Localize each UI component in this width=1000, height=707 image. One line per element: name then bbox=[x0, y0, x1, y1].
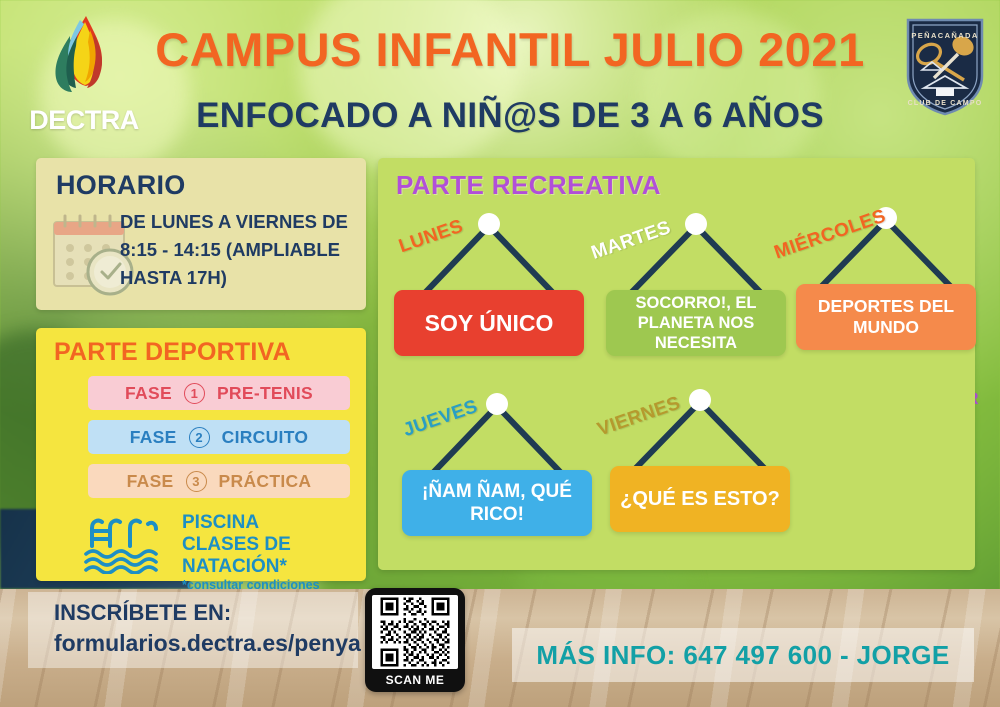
qr-code-card[interactable]: SCAN ME bbox=[365, 588, 465, 692]
parte-deportiva-panel: PARTE DEPORTIVA FASE 1 PRE-TENIS FASE 2 … bbox=[36, 328, 366, 581]
svg-text:PEÑACAÑADA: PEÑACAÑADA bbox=[911, 31, 978, 40]
page-title: CAMPUS INFANTIL JULIO 2021 bbox=[130, 22, 890, 77]
parte-recreativa-panel: PARTE RECREATIVA LUNES SOY ÚNICO MARTES … bbox=[378, 158, 975, 570]
fase-number: 3 bbox=[186, 471, 207, 492]
horario-line: HASTA 17H) bbox=[120, 264, 358, 292]
piscina-text: PISCINA CLASES DE NATACIÓN* *consultar c… bbox=[182, 512, 372, 592]
fase-row-1: FASE 1 PRE-TENIS bbox=[88, 376, 350, 410]
horario-lines: DE LUNES A VIERNES DE 8:15 - 14:15 (AMPL… bbox=[120, 208, 358, 292]
inscripcion-label: INSCRÍBETE EN: bbox=[54, 600, 231, 626]
club-badge-icon: PEÑACAÑADA CLUB DE CAMPO bbox=[902, 14, 988, 118]
pool-ladder-icon bbox=[82, 516, 160, 574]
hanger-lunes-icon bbox=[394, 210, 584, 302]
flame-icon bbox=[24, 10, 144, 115]
fase-row-3: FASE 3 PRÁCTICA bbox=[88, 464, 350, 498]
fase-name: PRE-TENIS bbox=[217, 383, 313, 404]
poster-header: DECTRA CAMPUS INFANTIL JULIO 2021 ENFOCA… bbox=[0, 0, 1000, 150]
activity-sign-jueves: ¡ÑAM ÑAM, QUÉ RICO! bbox=[402, 470, 592, 536]
activity-sign-lunes: SOY ÚNICO bbox=[394, 290, 584, 356]
horario-line: 8:15 - 14:15 (AMPLIABLE bbox=[120, 236, 358, 264]
logo-wordmark: DECTRA bbox=[24, 105, 144, 136]
fase-number: 1 bbox=[184, 383, 205, 404]
fase-name: CIRCUITO bbox=[222, 427, 309, 448]
horario-title: HORARIO bbox=[56, 170, 186, 201]
activity-sign-martes: SOCORRO!, EL PLANETA NOS NECESITA bbox=[606, 290, 786, 356]
qr-code-icon[interactable] bbox=[372, 595, 458, 669]
fase-name: PRÁCTICA bbox=[219, 471, 312, 492]
piscina-line1: PISCINA bbox=[182, 512, 372, 534]
parte-deportiva-title: PARTE DEPORTIVA bbox=[54, 338, 291, 367]
horario-line: DE LUNES A VIERNES DE bbox=[120, 208, 358, 236]
fase-label: FASE bbox=[130, 427, 177, 448]
piscina-note: *consultar condiciones bbox=[182, 578, 372, 592]
horario-panel: HORARIO DE LUNES A VIERNES DE 8:15 - 14:… bbox=[36, 158, 366, 310]
qr-scan-label: SCAN ME bbox=[372, 669, 458, 691]
fase-label: FASE bbox=[127, 471, 174, 492]
activity-sign-miercoles: DEPORTES DEL MUNDO bbox=[796, 284, 976, 350]
page-subtitle: ENFOCADO A NIÑ@S DE 3 A 6 AÑOS bbox=[130, 96, 890, 136]
hanger-martes-icon bbox=[606, 210, 786, 302]
fase-number: 2 bbox=[189, 427, 210, 448]
hanger-jueves-icon bbox=[402, 390, 592, 482]
dectra-logo: DECTRA bbox=[24, 10, 144, 138]
contact-panel: MÁS INFO: 647 497 600 - JORGE bbox=[512, 628, 974, 682]
activity-sign-viernes: ¿QUÉ ES ESTO? bbox=[610, 466, 790, 532]
piscina-line2: CLASES DE NATACIÓN* bbox=[182, 534, 372, 578]
parte-recreativa-title: PARTE RECREATIVA bbox=[396, 170, 661, 201]
fase-label: FASE bbox=[125, 383, 172, 404]
inscripcion-panel: INSCRÍBETE EN: formularios.dectra.es/pen… bbox=[28, 592, 358, 668]
contact-text: MÁS INFO: 647 497 600 - JORGE bbox=[536, 640, 949, 671]
fase-row-2: FASE 2 CIRCUITO bbox=[88, 420, 350, 454]
svg-text:CLUB DE CAMPO: CLUB DE CAMPO bbox=[908, 100, 983, 107]
hanger-viernes-icon bbox=[610, 386, 790, 478]
inscripcion-url[interactable]: formularios.dectra.es/penya bbox=[54, 630, 361, 657]
